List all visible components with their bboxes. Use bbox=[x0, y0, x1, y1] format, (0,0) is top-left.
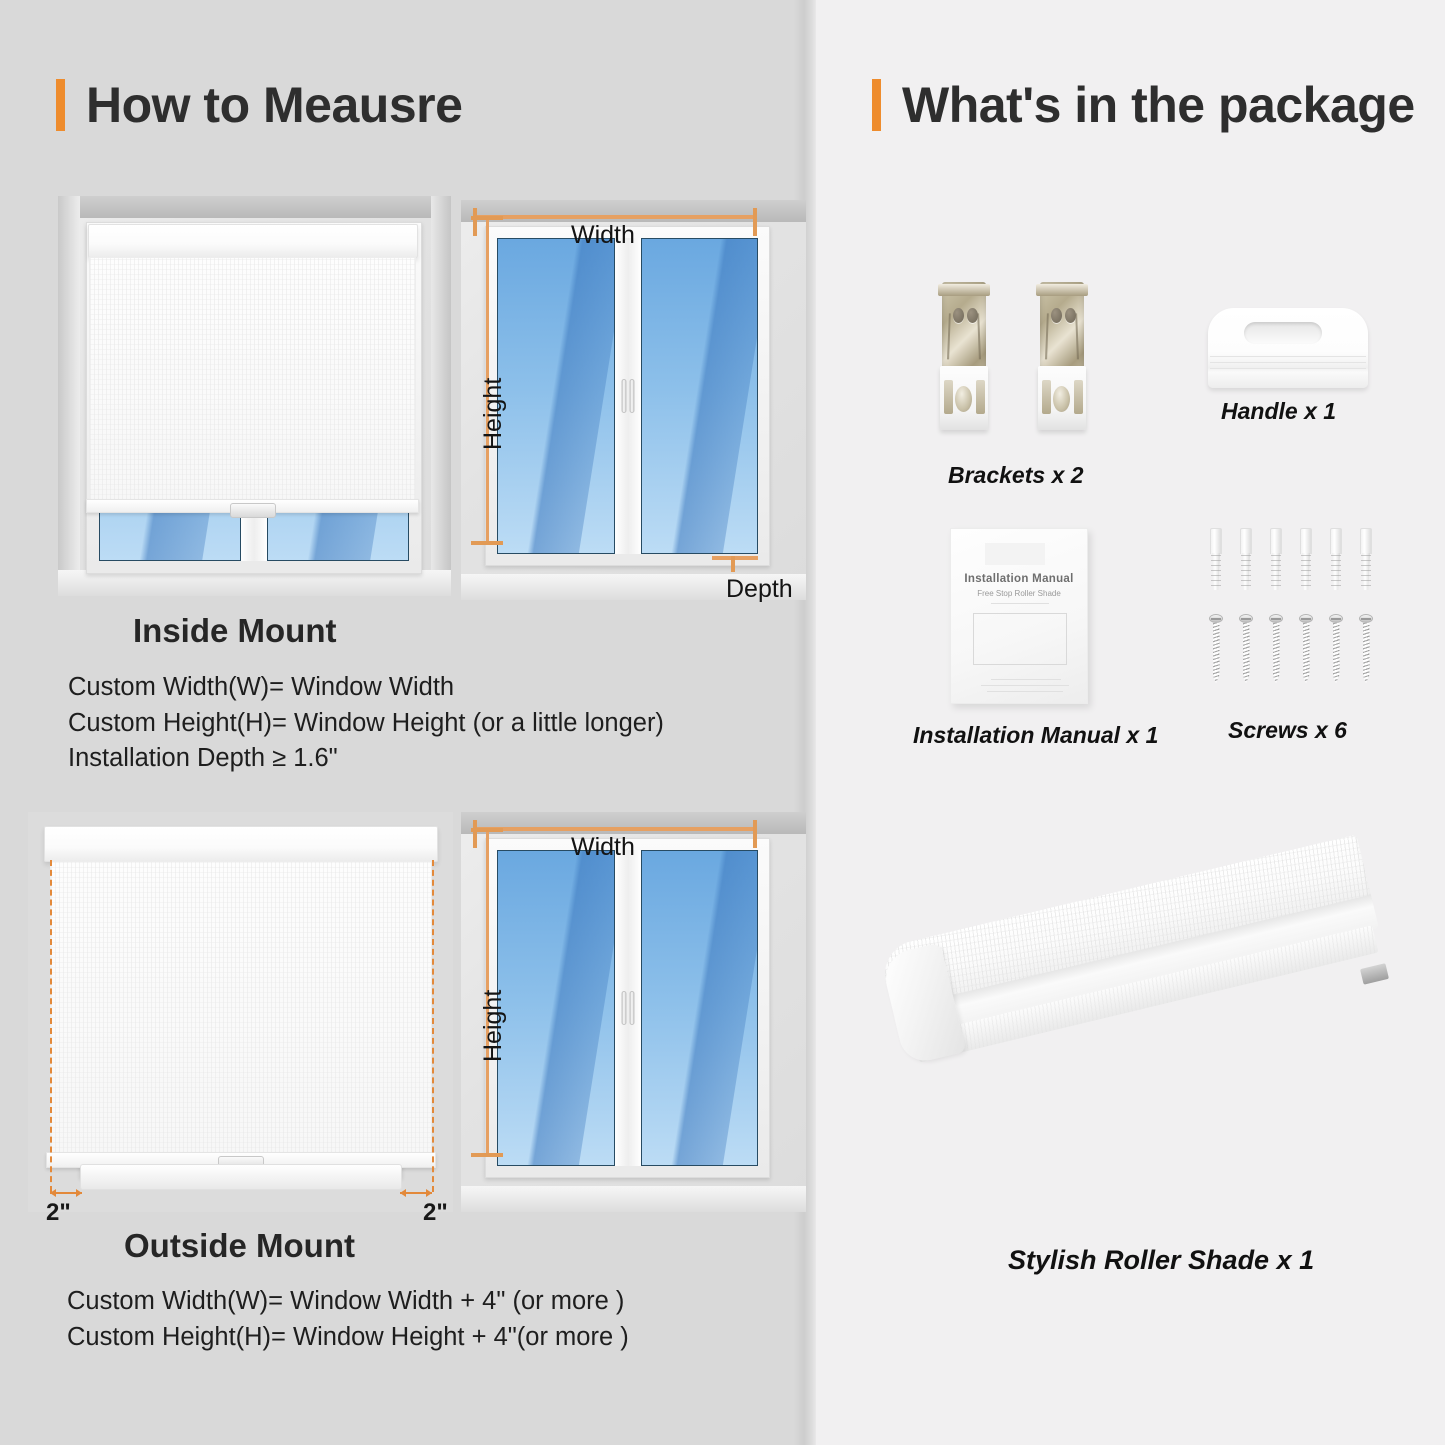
wall-anchor-icon bbox=[1358, 528, 1374, 590]
window-sashes bbox=[486, 227, 769, 565]
screw-item-icon bbox=[1239, 614, 1253, 688]
window-frame bbox=[485, 226, 770, 566]
inside-mount-spec-line: Custom Width(W)= Window Width bbox=[68, 670, 664, 706]
width-guide-line bbox=[475, 827, 757, 831]
screw-icon bbox=[1208, 528, 1388, 698]
width-guide-cap-left bbox=[473, 208, 477, 236]
manual-icon: Installation Manual Free Stop Roller Sha… bbox=[950, 528, 1088, 704]
inside-mount-measure-diagram: Width Height Depth bbox=[461, 200, 806, 600]
width-guide-cap-left bbox=[473, 820, 477, 848]
width-label: Width bbox=[571, 221, 635, 250]
window-sashes bbox=[486, 839, 769, 1177]
window-glass-right bbox=[641, 238, 759, 554]
screw-item-icon bbox=[1269, 614, 1283, 688]
window-handles-icon bbox=[621, 379, 634, 413]
window-sill bbox=[461, 1186, 806, 1212]
overhang-arrow-right bbox=[400, 1192, 432, 1194]
how-to-measure-heading: How to Meausre bbox=[56, 76, 462, 134]
window-glass-right bbox=[641, 850, 759, 1166]
how-to-measure-title: How to Meausre bbox=[86, 76, 462, 134]
window-glass-left bbox=[497, 238, 615, 554]
window-frame bbox=[485, 838, 770, 1178]
overhang-arrow-left bbox=[50, 1192, 82, 1194]
window-glass-left bbox=[497, 850, 615, 1166]
manual-cover-subtitle: Free Stop Roller Shade bbox=[951, 589, 1087, 598]
shade-bottom-bar bbox=[86, 499, 419, 513]
depth-guide-line bbox=[712, 556, 758, 560]
height-label: Height bbox=[479, 990, 508, 1062]
shade-fabric bbox=[50, 861, 432, 1154]
screw-item-icon bbox=[1299, 614, 1313, 688]
width-guide-cap-right bbox=[753, 820, 757, 848]
window-left-jamb bbox=[58, 196, 80, 596]
whats-in-package-title: What's in the package bbox=[902, 76, 1415, 134]
wall-anchor-icon bbox=[1268, 528, 1284, 590]
window-sill bbox=[80, 1164, 402, 1190]
shade-valance bbox=[88, 224, 418, 258]
height-guide-cap-top bbox=[471, 216, 503, 220]
roller-shade-icon bbox=[905, 905, 1415, 1205]
height-label: Height bbox=[479, 378, 508, 450]
outside-mount-measure-diagram: Width Height bbox=[461, 812, 806, 1212]
inside-mount-shade-illustration bbox=[58, 196, 451, 596]
manual-cover-title: Installation Manual bbox=[951, 573, 1087, 585]
depth-guide-cap bbox=[731, 556, 735, 572]
screw-item-icon bbox=[1329, 614, 1343, 688]
bracket-icon bbox=[1034, 282, 1090, 430]
bracket-icon bbox=[936, 282, 992, 430]
depth-label: Depth bbox=[726, 575, 793, 604]
inside-mount-spec-line: Installation Depth ≥ 1.6" bbox=[68, 741, 664, 777]
brackets-label: Brackets x 2 bbox=[948, 462, 1084, 489]
overhang-guide-right bbox=[432, 860, 434, 1192]
screws-label: Screws x 6 bbox=[1228, 717, 1347, 744]
infographic-page: How to Meausre bbox=[0, 0, 1445, 1445]
overhang-right-dimension: 2" bbox=[423, 1199, 448, 1227]
wall-anchor-icon bbox=[1328, 528, 1344, 590]
inside-mount-specs: Custom Width(W)= Window Width Custom Hei… bbox=[68, 670, 664, 777]
inside-mount-title: Inside Mount bbox=[133, 612, 336, 650]
outside-mount-shade-illustration bbox=[28, 812, 453, 1212]
outside-mount-title: Outside Mount bbox=[124, 1227, 355, 1265]
screw-item-icon bbox=[1209, 614, 1223, 688]
shade-fabric bbox=[89, 257, 416, 501]
handle-label: Handle x 1 bbox=[1221, 398, 1336, 425]
width-guide-cap-right bbox=[753, 208, 757, 236]
window-mullion bbox=[615, 238, 641, 554]
height-guide-cap-bottom bbox=[471, 1153, 503, 1157]
height-guide-cap-bottom bbox=[471, 541, 503, 545]
outside-mount-spec-line: Custom Width(W)= Window Width + 4" (or m… bbox=[67, 1284, 629, 1320]
wall-anchor-icon bbox=[1298, 528, 1314, 590]
inside-mount-spec-line: Custom Height(H)= Window Height (or a li… bbox=[68, 706, 664, 742]
outside-mount-spec-line: Custom Height(H)= Window Height + 4"(or … bbox=[67, 1320, 629, 1356]
overhang-guide-left bbox=[50, 860, 52, 1192]
window-right-jamb bbox=[431, 196, 451, 596]
screw-item-icon bbox=[1359, 614, 1373, 688]
outside-mount-specs: Custom Width(W)= Window Width + 4" (or m… bbox=[67, 1284, 629, 1355]
accent-bar-icon bbox=[872, 79, 881, 131]
window-header-jamb bbox=[58, 196, 451, 218]
whats-in-package-heading: What's in the package bbox=[872, 76, 1415, 134]
window-handles-icon bbox=[621, 991, 634, 1025]
roller-shade-label: Stylish Roller Shade x 1 bbox=[1008, 1245, 1314, 1276]
installation-manual-label: Installation Manual x 1 bbox=[913, 722, 1158, 749]
overhang-left-dimension: 2" bbox=[46, 1199, 71, 1227]
shade-pull-tab-icon bbox=[230, 503, 276, 518]
window-mullion bbox=[615, 850, 641, 1166]
height-guide-cap-top bbox=[471, 828, 503, 832]
wall-anchor-icon bbox=[1208, 528, 1224, 590]
accent-bar-icon bbox=[56, 79, 65, 131]
width-guide-line bbox=[475, 215, 757, 219]
width-label: Width bbox=[571, 833, 635, 862]
shade-valance bbox=[44, 826, 438, 862]
wall-anchor-icon bbox=[1238, 528, 1254, 590]
